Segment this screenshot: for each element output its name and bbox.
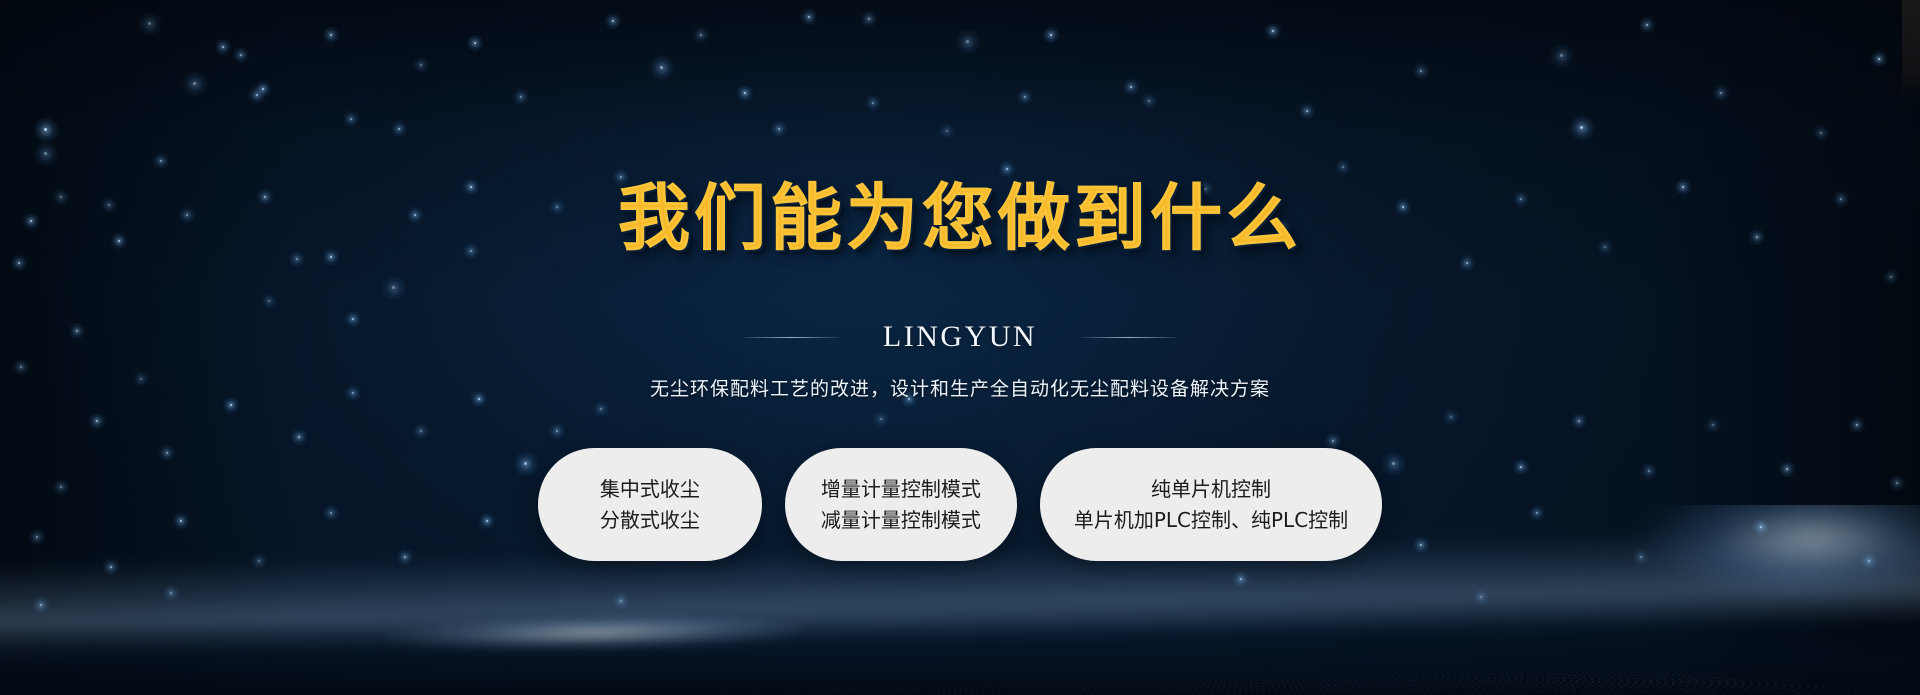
brand-name: LINGYUN (883, 320, 1037, 354)
pill-line: 集中式收尘 (600, 478, 700, 500)
brand-divider-row: LINGYUN (743, 320, 1177, 354)
pill-control-mode[interactable]: 纯单片机控制 单片机加PLC控制、纯PLC控制 (1040, 448, 1382, 561)
pill-dust-collection[interactable]: 集中式收尘 分散式收尘 (538, 448, 762, 561)
feature-pill-group: 集中式收尘 分散式收尘 增量计量控制模式 减量计量控制模式 纯单片机控制 单片机… (538, 448, 1382, 561)
pill-metering-mode[interactable]: 增量计量控制模式 减量计量控制模式 (785, 448, 1017, 561)
page-title: 我们能为您做到什么 (618, 182, 1302, 254)
divider-line-left (743, 337, 839, 338)
divider-line-right (1081, 337, 1177, 338)
hero-banner: 我们能为您做到什么 LINGYUN 无尘环保配料工艺的改进，设计和生产全自动化无… (0, 0, 1920, 695)
banner-content: 我们能为您做到什么 LINGYUN 无尘环保配料工艺的改进，设计和生产全自动化无… (0, 0, 1920, 695)
pill-line: 增量计量控制模式 (821, 478, 981, 500)
subtitle-description: 无尘环保配料工艺的改进，设计和生产全自动化无尘配料设备解决方案 (650, 374, 1270, 401)
pill-line: 减量计量控制模式 (821, 509, 981, 531)
pill-line: 单片机加PLC控制、纯PLC控制 (1074, 509, 1348, 531)
pill-line: 纯单片机控制 (1151, 478, 1271, 500)
pill-line: 分散式收尘 (600, 509, 700, 531)
